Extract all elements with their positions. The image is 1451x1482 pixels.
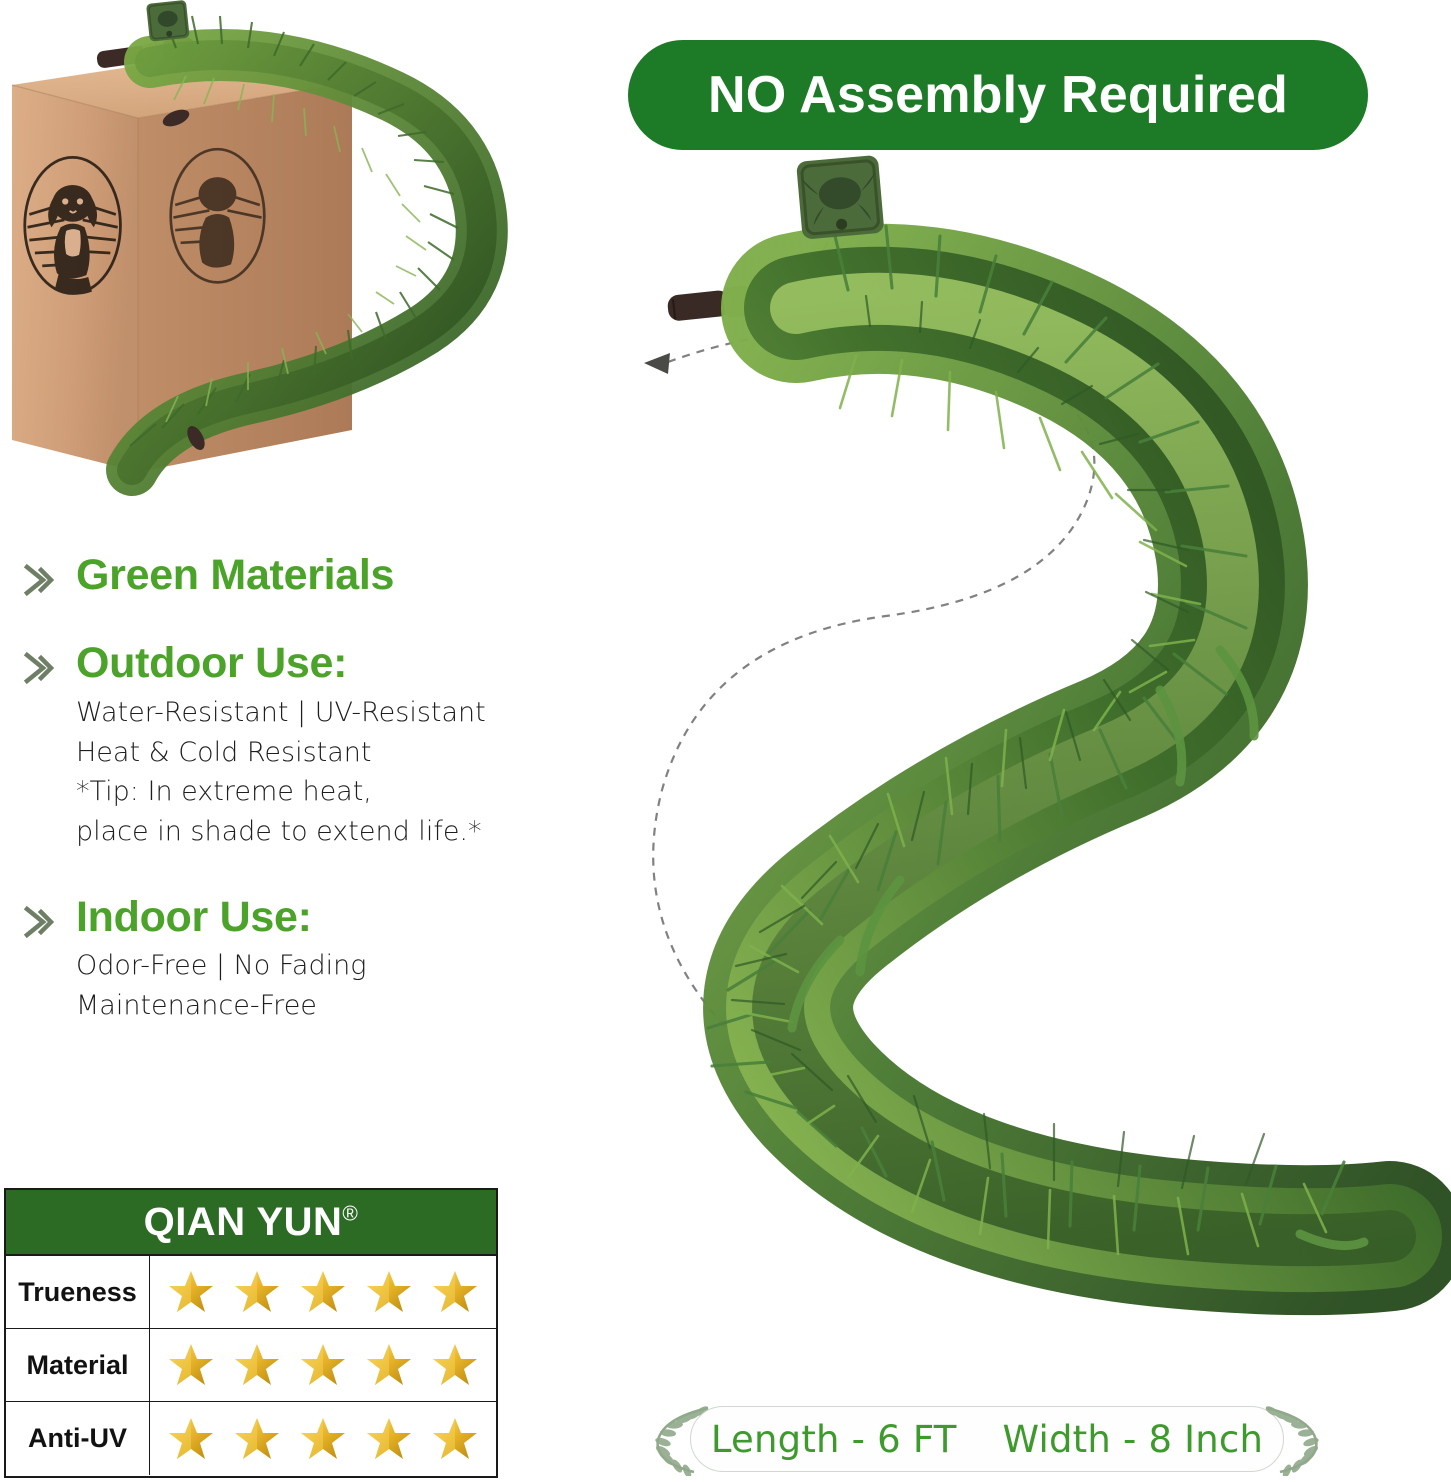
box-product-photo	[0, 0, 530, 500]
rating-row-stars	[150, 1329, 496, 1401]
hero-garland-svg	[600, 150, 1451, 1390]
box-photo-svg	[0, 0, 530, 500]
table-row: Trueness	[6, 1256, 496, 1329]
star-icon	[299, 1342, 347, 1388]
rating-table: QIAN YUN® Trueness Material Ant	[4, 1188, 498, 1478]
star-icon	[167, 1269, 215, 1315]
no-assembly-badge-label: NO Assembly Required	[708, 65, 1288, 125]
star-icon	[365, 1269, 413, 1315]
star-icon	[233, 1416, 281, 1462]
dimensions-banner: Length - 6 FT Width - 8 Inch	[646, 1404, 1328, 1476]
feature-detail-line: *Tip: In extreme heat,	[76, 772, 534, 812]
rating-row-label: Material	[6, 1329, 150, 1401]
feature-green-materials: Green Materials	[14, 552, 534, 598]
triangle-arrow-left-icon	[644, 353, 670, 374]
star-icon	[233, 1269, 281, 1315]
feature-detail-line: Odor-Free | No Fading	[76, 946, 534, 986]
feature-detail-line: Water-Resistant | UV-Resistant	[76, 693, 534, 733]
feature-heading: Indoor Use:	[76, 894, 534, 940]
feature-outdoor-use: Outdoor Use: Water-Resistant | UV-Resist…	[14, 640, 534, 851]
double-chevron-right-icon	[22, 902, 62, 942]
rating-row-stars	[150, 1256, 496, 1328]
star-icon	[365, 1342, 413, 1388]
product-infographic: NO Assembly Required Green Materials Out…	[0, 0, 1451, 1482]
feature-detail-line: Heat & Cold Resistant	[76, 733, 534, 773]
star-icon	[431, 1269, 479, 1315]
length-value: Length - 6 FT	[711, 1418, 957, 1461]
feature-detail-line: place in shade to extend life.*	[76, 812, 534, 852]
no-assembly-badge: NO Assembly Required	[628, 40, 1368, 150]
brand-name: QIAN YUN®	[144, 1200, 359, 1245]
feature-indoor-use: Indoor Use: Odor-Free | No Fading Mainte…	[14, 894, 534, 1026]
hero-garland-photo	[600, 150, 1451, 1390]
star-icon	[299, 1269, 347, 1315]
feature-heading: Outdoor Use:	[76, 640, 534, 686]
star-icon	[167, 1416, 215, 1462]
feature-detail-lines: Odor-Free | No Fading Maintenance-Free	[76, 946, 534, 1025]
width-value: Width - 8 Inch	[1003, 1418, 1264, 1461]
star-icon	[299, 1416, 347, 1462]
double-chevron-right-icon	[22, 648, 62, 688]
hang-tag-icon	[796, 155, 884, 240]
rating-row-label: Anti-UV	[6, 1402, 150, 1475]
double-chevron-right-icon	[22, 560, 62, 600]
hang-tag-icon	[146, 0, 190, 42]
star-icon	[167, 1342, 215, 1388]
rating-row-label: Trueness	[6, 1256, 150, 1328]
star-icon	[431, 1416, 479, 1462]
star-icon	[233, 1342, 281, 1388]
star-icon	[431, 1342, 479, 1388]
feature-list: Green Materials Outdoor Use: Water-Resis…	[14, 552, 534, 1025]
star-icon	[365, 1416, 413, 1462]
dimensions-text-row: Length - 6 FT Width - 8 Inch	[690, 1406, 1284, 1472]
feature-heading: Green Materials	[76, 552, 534, 598]
registered-mark: ®	[342, 1202, 358, 1225]
rating-table-header: QIAN YUN®	[6, 1190, 496, 1256]
feature-detail-line: Maintenance-Free	[76, 986, 534, 1026]
laurel-branch-icon	[1254, 1404, 1328, 1476]
table-row: Material	[6, 1329, 496, 1402]
rating-row-stars	[150, 1402, 496, 1475]
garland-foliage	[708, 226, 1390, 1254]
table-row: Anti-UV	[6, 1402, 496, 1475]
feature-detail-lines: Water-Resistant | UV-Resistant Heat & Co…	[76, 693, 534, 852]
